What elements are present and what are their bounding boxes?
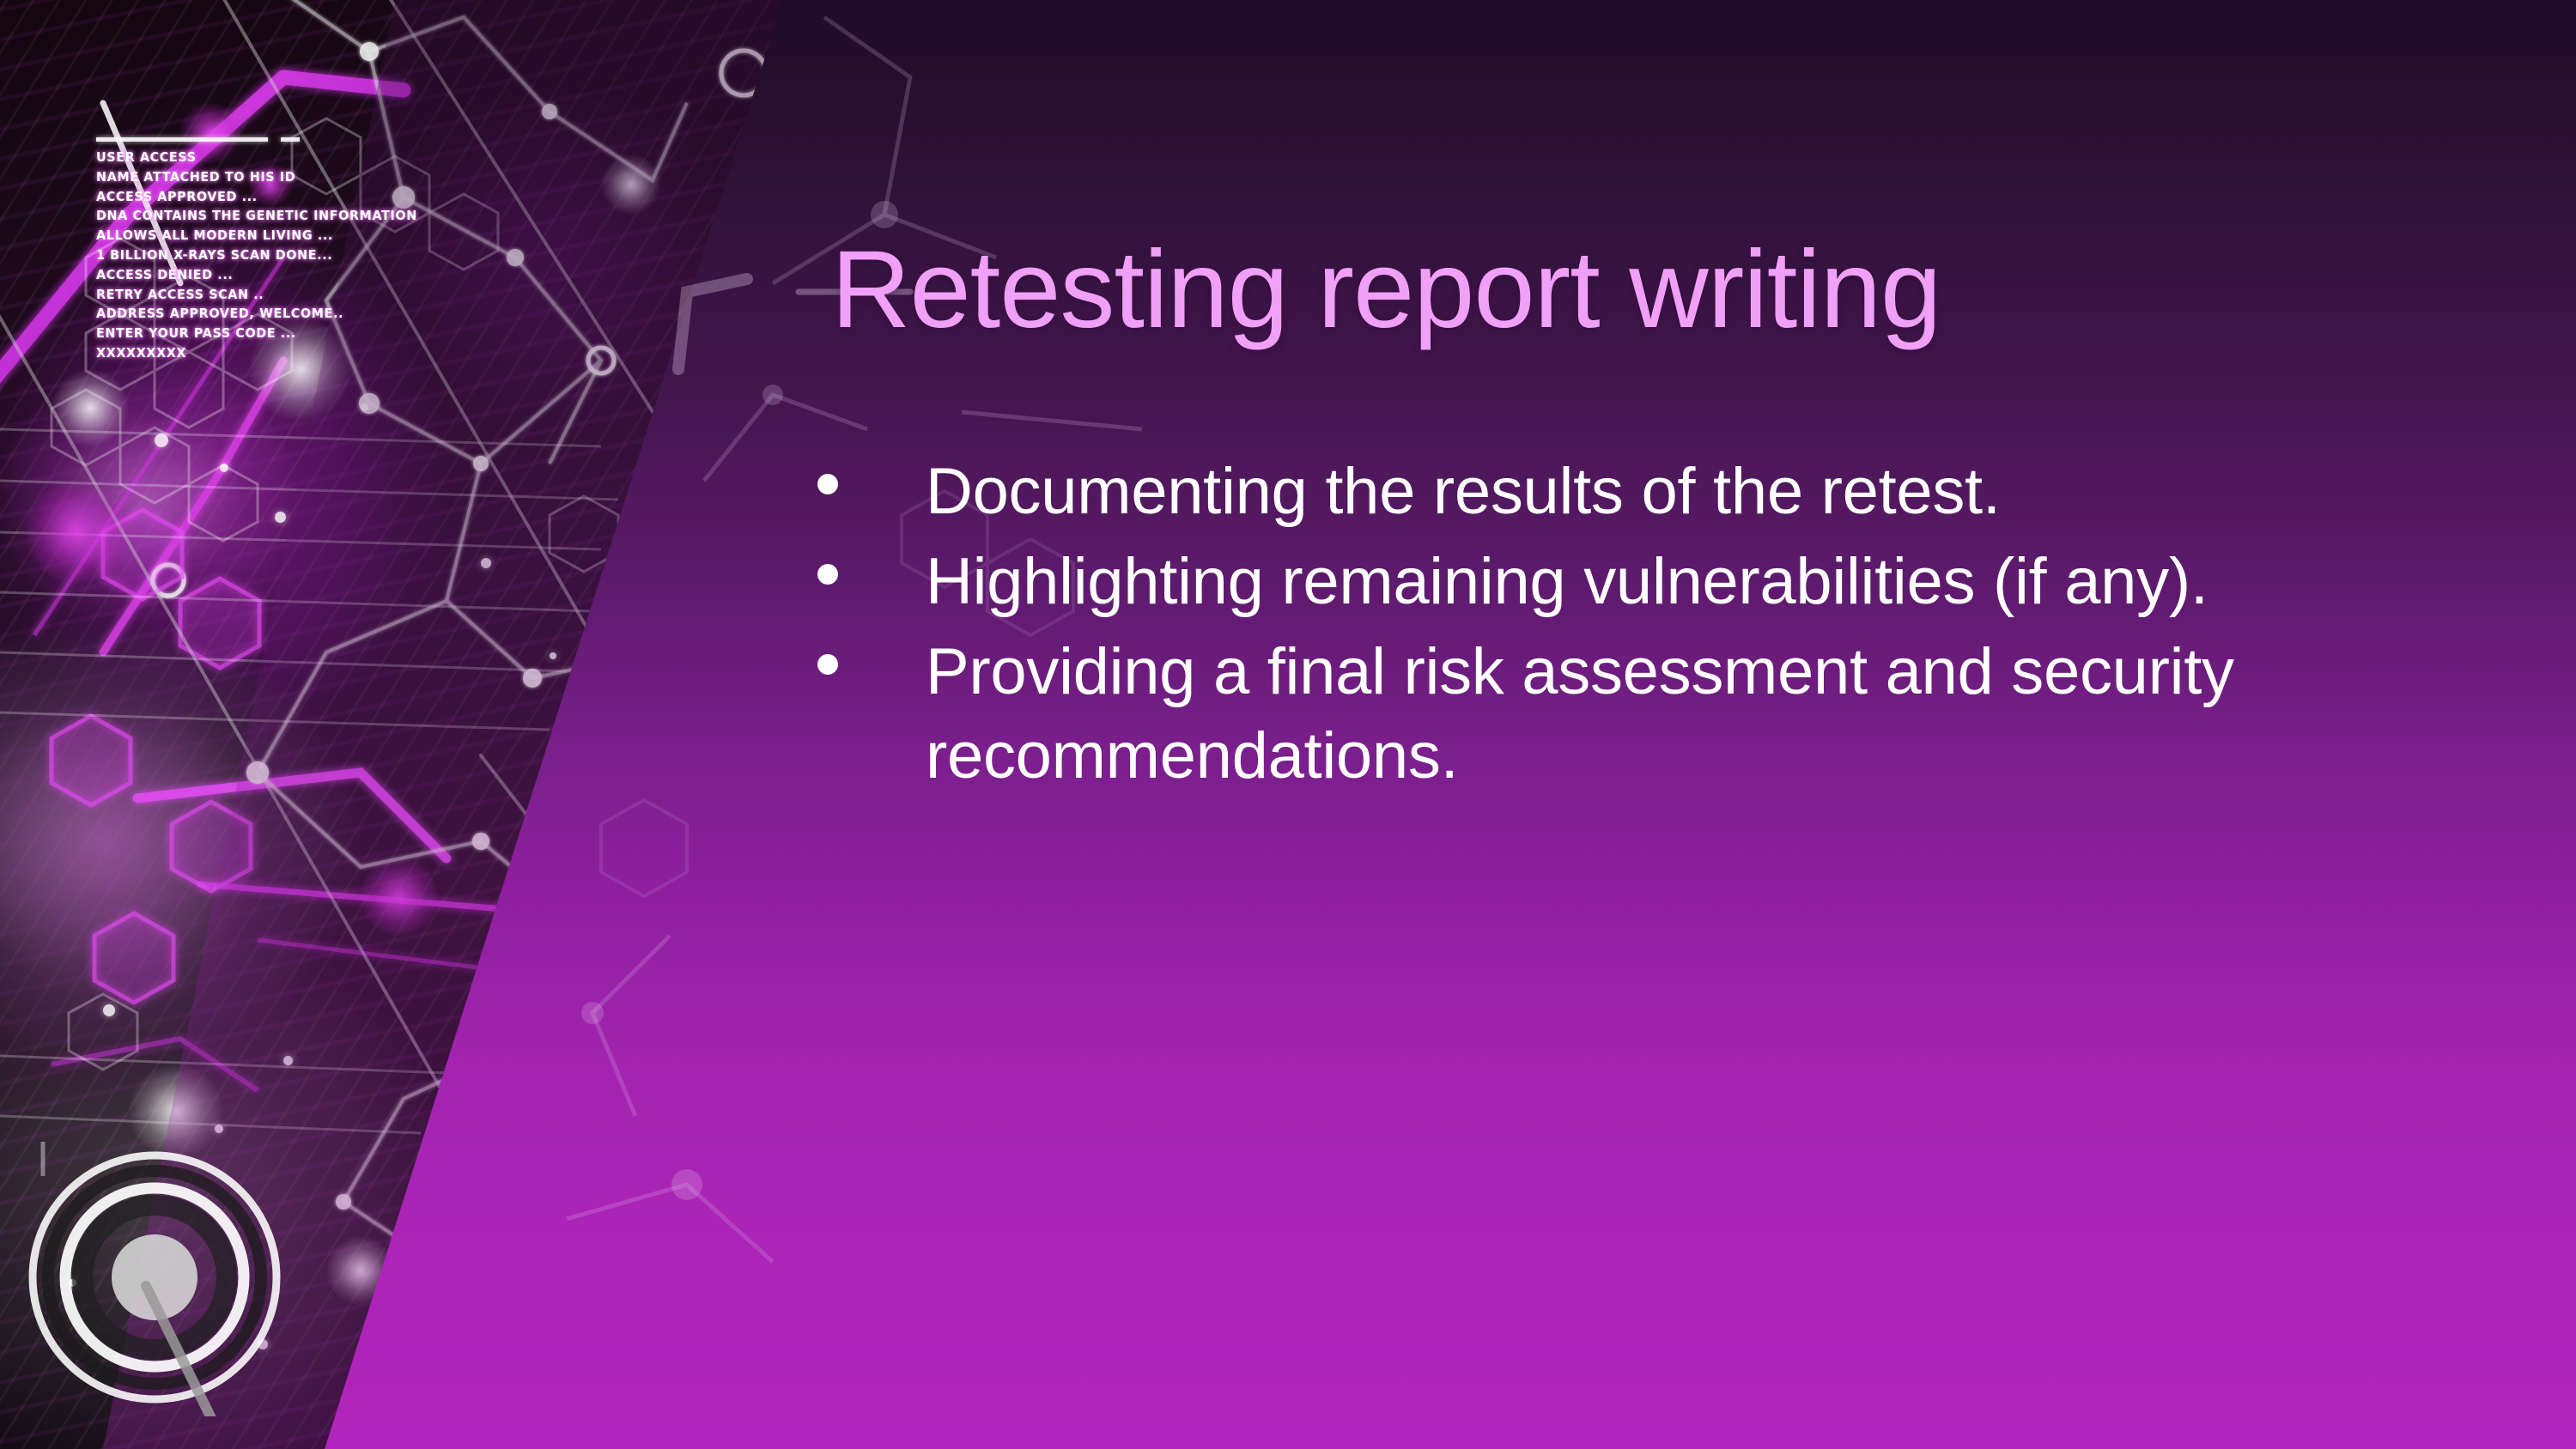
bullet-point-icon — [817, 450, 855, 494]
bullet-point-icon — [817, 630, 855, 675]
terminal-line: DNA CONTAINS THE GENETIC INFORMATION — [96, 206, 360, 226]
bullet-text: Providing a final risk assessment and se… — [855, 630, 2466, 800]
bullet-point-icon — [817, 540, 855, 585]
terminal-line: NAME ATTACHED TO HIS ID — [96, 167, 360, 187]
terminal-line: ACCESS DENIED ... — [96, 265, 360, 285]
list-item: Documenting the results of the retest. — [817, 450, 2466, 535]
bullet-text: Documenting the results of the retest. — [855, 450, 2466, 535]
particle-dot — [155, 433, 168, 447]
terminal-line: RETRY ACCESS SCAN .. — [96, 285, 360, 305]
terminal-line: USER ACCESS — [96, 148, 360, 167]
particle-dot — [220, 464, 228, 472]
bullet-text: Highlighting remaining vulnerabilities (… — [855, 540, 2466, 625]
particle-dot — [481, 558, 491, 568]
slide-title: Retesting report writing — [831, 227, 2463, 354]
terminal-line: ACCESS APPROVED ... — [96, 187, 360, 207]
particle-glow — [326, 1236, 395, 1305]
terminal-divider-long — [96, 137, 268, 142]
particle-dot — [550, 652, 556, 659]
terminal-line: 1 BILLION X-RAYS SCAN DONE... — [96, 246, 360, 265]
particle-magenta-glow — [26, 481, 129, 584]
terminal-line: ENTER YOUR PASS CODE ... — [96, 324, 360, 343]
particle-dot — [361, 403, 368, 411]
list-item: Providing a final risk assessment and se… — [817, 630, 2466, 800]
decorative-artwork-panel: USER ACCESS NAME ATTACHED TO HIS ID ACCE… — [0, 0, 824, 1449]
terminal-readout: USER ACCESS NAME ATTACHED TO HIS ID ACCE… — [96, 137, 371, 363]
slide-bullet-list: Documenting the results of the retest. H… — [817, 450, 2466, 804]
particle-magenta-glow — [361, 858, 438, 936]
particle-dot — [103, 1004, 115, 1016]
particle-glow — [52, 369, 129, 446]
terminal-line: ADDRESS APPROVED, WELCOME.. — [96, 304, 360, 324]
particle-dot — [283, 1056, 293, 1065]
presentation-slide: USER ACCESS NAME ATTACHED TO HIS ID ACCE… — [0, 0, 2576, 1449]
particle-glow — [601, 155, 661, 215]
magenta-hexagons — [52, 510, 259, 1003]
radar-target-icon — [17, 1142, 292, 1416]
list-item: Highlighting remaining vulnerabilities (… — [817, 540, 2466, 625]
particle-dot — [275, 512, 286, 523]
terminal-line: ALLOWS ALL MODERN LIVING ... — [96, 226, 360, 246]
terminal-divider-short — [281, 137, 300, 142]
terminal-line: XXXXXXXXX — [96, 343, 360, 363]
